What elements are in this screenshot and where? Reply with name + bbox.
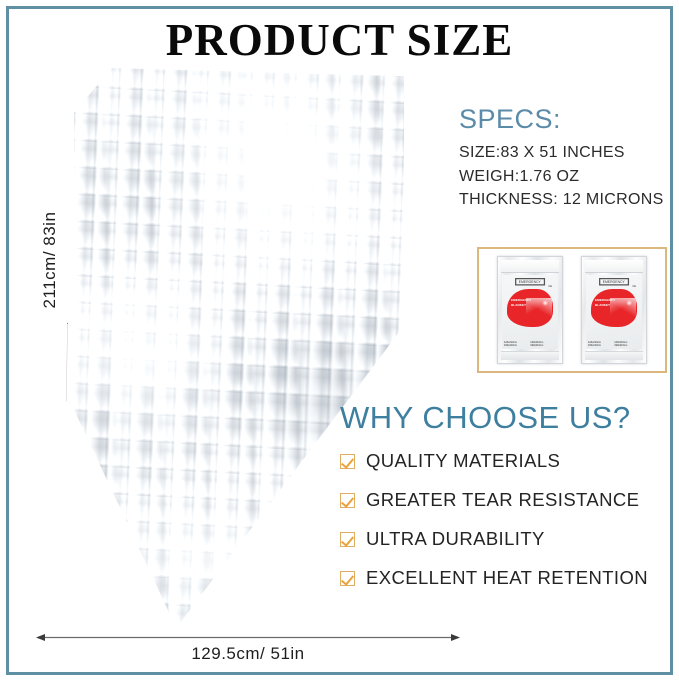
- checkbox-check-icon: [340, 571, 355, 586]
- checkbox-check-icon: [340, 454, 355, 469]
- packet-brand-text: EMERGENCY: [515, 278, 545, 286]
- width-dimension-label: 129.5cm/ 51in: [36, 644, 460, 664]
- height-dimension-arrow: [66, 86, 68, 638]
- why-item-label: QUALITY MATERIALS: [366, 450, 560, 472]
- packet-size-option: 160x210cm: [588, 344, 614, 347]
- why-choose-us-block: WHY CHOOSE US? QUALITY MATERIALS GREATER…: [340, 400, 672, 606]
- page-title: PRODUCT SIZE: [0, 14, 679, 66]
- packet-red-label: EMERGENCY BLANKET: [507, 289, 553, 327]
- packet-size-options: 124x210cm 140x210cm 160x210cm 190x210cm: [586, 341, 642, 350]
- packet-item: EMERGENCY CE EMERGENCY BLANKET 124x210cm…: [497, 256, 563, 364]
- why-list-item: ULTRA DURABILITY: [340, 528, 672, 550]
- width-dimension-arrow: [36, 632, 460, 643]
- packet-bottom-seal: [585, 351, 643, 360]
- packet-label-card: EMERGENCY CE EMERGENCY BLANKET 124x210cm…: [586, 275, 642, 349]
- packet-size-option: 190x210cm: [530, 344, 556, 347]
- specs-heading: SPECS:: [459, 104, 674, 135]
- why-list-item: EXCELLENT HEAT RETENTION: [340, 567, 672, 589]
- packet-item: EMERGENCY CE EMERGENCY BLANKET 124x210cm…: [581, 256, 647, 364]
- packaging-photo-frame: EMERGENCY CE EMERGENCY BLANKET 124x210cm…: [477, 247, 667, 373]
- packet-top-seal: [585, 260, 643, 273]
- spec-line-weight: WEIGH:1.76 OZ: [459, 165, 674, 189]
- why-item-label: EXCELLENT HEAT RETENTION: [366, 567, 648, 589]
- checkbox-check-icon: [340, 532, 355, 547]
- packaging-photo: EMERGENCY CE EMERGENCY BLANKET 124x210cm…: [488, 256, 656, 364]
- packet-bottom-seal: [501, 351, 559, 360]
- height-dimension-label: 211cm/ 83in: [40, 180, 60, 340]
- packet-person-illustration: [526, 298, 552, 326]
- why-list-item: QUALITY MATERIALS: [340, 450, 672, 472]
- packet-ce-mark: CE: [548, 285, 552, 288]
- packet-label-line2: BLANKET: [595, 304, 610, 308]
- why-item-label: ULTRA DURABILITY: [366, 528, 545, 550]
- packet-label-line2: BLANKET: [511, 304, 526, 308]
- product-size-infographic: PRODUCT SIZE 211cm/ 83in 129.5cm/ 51in S…: [0, 0, 679, 681]
- checkbox-check-icon: [340, 493, 355, 508]
- packet-label-card: EMERGENCY CE EMERGENCY BLANKET 124x210cm…: [502, 275, 558, 349]
- spec-line-thickness: THICKNESS: 12 MICRONS: [459, 188, 674, 212]
- packet-red-label: EMERGENCY BLANKET: [591, 289, 637, 327]
- packet-person-illustration: [610, 298, 636, 326]
- why-item-label: GREATER TEAR RESISTANCE: [366, 489, 639, 511]
- spec-line-size: SIZE:83 X 51 INCHES: [459, 141, 674, 165]
- why-list-item: GREATER TEAR RESISTANCE: [340, 489, 672, 511]
- packet-size-option: 160x210cm: [504, 344, 530, 347]
- why-choose-us-heading: WHY CHOOSE US?: [340, 400, 672, 436]
- packet-ce-mark: CE: [632, 285, 636, 288]
- packet-top-seal: [501, 260, 559, 273]
- packet-brand-text: EMERGENCY: [599, 278, 629, 286]
- packet-size-options: 124x210cm 140x210cm 160x210cm 190x210cm: [502, 341, 558, 350]
- specs-block: SPECS: SIZE:83 X 51 INCHES WEIGH:1.76 OZ…: [459, 104, 674, 212]
- packet-size-option: 190x210cm: [614, 344, 640, 347]
